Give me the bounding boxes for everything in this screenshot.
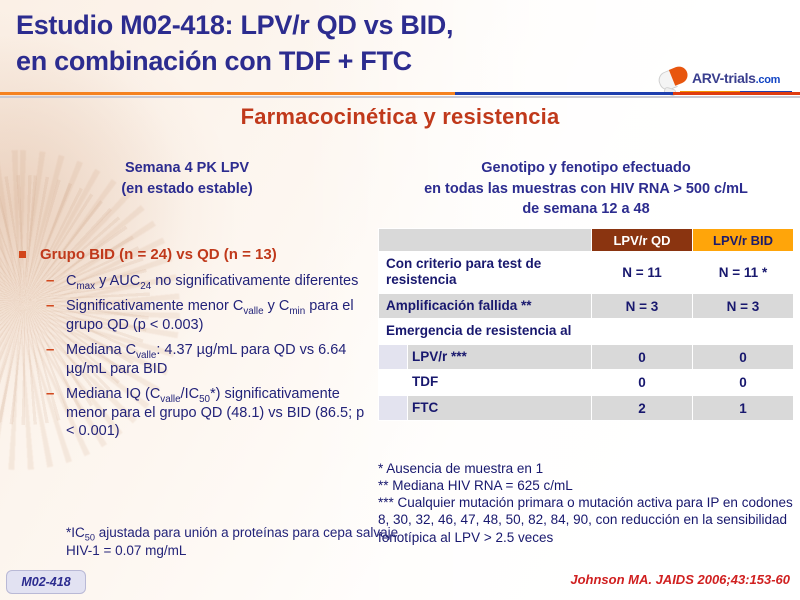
table-row: TDF 0 0 bbox=[379, 370, 794, 395]
slide-canvas: Estudio M02-418: LPV/r QD vs BID, en com… bbox=[0, 0, 800, 600]
divider-segment-gray bbox=[0, 96, 800, 98]
dash-bullet-icon: – bbox=[46, 340, 54, 359]
row-value-qd: N = 3 bbox=[592, 293, 693, 318]
table-header-row: LPV/r QD LPV/r BID bbox=[379, 229, 794, 252]
table-row: FTC 2 1 bbox=[379, 395, 794, 420]
footnote-1: * Ausencia de muestra en 1 bbox=[378, 460, 798, 477]
table-footnotes: * Ausencia de muestra en 1 ** Mediana HI… bbox=[378, 460, 798, 546]
row-value-bid: 1 bbox=[693, 395, 794, 420]
header-blank-cell bbox=[379, 229, 592, 252]
bullet-sub-mediana-iq: – Mediana IQ (Cvalle/IC50*) significativ… bbox=[10, 385, 370, 441]
divider-segment-blue bbox=[455, 92, 673, 95]
resistance-table: LPV/r QD LPV/r BID Con criterio para tes… bbox=[378, 228, 794, 421]
title-line-2: en combinación con TDF + FTC bbox=[16, 44, 656, 80]
bullet-sub-label: Significativamente menor Cvalle y Cmin p… bbox=[66, 298, 354, 333]
table-row: Amplificación fallida ** N = 3 N = 3 bbox=[379, 293, 794, 318]
row-label: FTC bbox=[408, 395, 592, 420]
table-section-row: Emergencia de resistencia al bbox=[379, 319, 794, 344]
left-heading-line-1: Semana 4 PK LPV bbox=[42, 158, 332, 179]
footnote-2: ** Mediana HIV RNA = 625 c/mL bbox=[378, 477, 798, 494]
row-indent-cell bbox=[379, 344, 408, 369]
bullet-sub-cmax-auc: – Cmax y AUC24 no significativamente dif… bbox=[10, 272, 370, 291]
pill-icon bbox=[656, 64, 690, 91]
bullet-main-label: Grupo BID (n = 24) vs QD (n = 13) bbox=[40, 246, 277, 263]
row-value-bid: 0 bbox=[693, 370, 794, 395]
divider-segment-red bbox=[673, 92, 800, 95]
row-label: LPV/r *** bbox=[408, 344, 592, 369]
bullet-list: Grupo BID (n = 24) vs QD (n = 13) – Cmax… bbox=[10, 245, 370, 448]
header-cell-lpvr-bid: LPV/r BID bbox=[693, 229, 794, 252]
row-value-qd: 0 bbox=[592, 370, 693, 395]
row-label: Amplificación fallida ** bbox=[379, 293, 592, 318]
row-label: Con criterio para test de resistencia bbox=[379, 252, 592, 294]
page-title: Estudio M02-418: LPV/r QD vs BID, en com… bbox=[16, 8, 656, 80]
page-subtitle: Farmacocinética y resistencia bbox=[0, 104, 800, 130]
bullet-sub-cvalle-cmin: – Significativamente menor Cvalle y Cmin… bbox=[10, 297, 370, 334]
dash-bullet-icon: – bbox=[46, 271, 54, 290]
bullet-sub-mediana-cvalle: – Mediana Cvalle: 4.37 µg/mL para QD vs … bbox=[10, 341, 370, 378]
right-heading-line-2: en todas las muestras con HIV RNA > 500 … bbox=[372, 179, 800, 200]
row-value-qd: 0 bbox=[592, 344, 693, 369]
row-label: Emergencia de resistencia al bbox=[379, 319, 794, 344]
square-bullet-icon bbox=[19, 251, 26, 258]
row-indent-cell bbox=[379, 370, 408, 395]
row-indent-cell bbox=[379, 395, 408, 420]
left-heading-line-2: (en estado estable) bbox=[42, 179, 332, 200]
header-divider bbox=[0, 92, 800, 95]
bullet-main: Grupo BID (n = 24) vs QD (n = 13) bbox=[10, 245, 370, 265]
left-column-heading: Semana 4 PK LPV (en estado estable) bbox=[42, 158, 332, 199]
footnote-3: *** Cualquier mutación primara o mutació… bbox=[378, 494, 798, 545]
table-row: LPV/r *** 0 0 bbox=[379, 344, 794, 369]
table-row: Con criterio para test de resistencia N … bbox=[379, 252, 794, 294]
logo-wordmark-suffix: .com bbox=[756, 74, 780, 86]
row-value-bid: N = 3 bbox=[693, 293, 794, 318]
bullet-sub-label: Mediana IQ (Cvalle/IC50*) significativam… bbox=[66, 386, 364, 439]
title-line-1: Estudio M02-418: LPV/r QD vs BID, bbox=[16, 10, 453, 40]
dash-bullet-icon: – bbox=[46, 296, 54, 315]
citation-reference: Johnson MA. JAIDS 2006;43:153-60 bbox=[570, 572, 790, 587]
bullet-sub-label: Cmax y AUC24 no significativamente difer… bbox=[66, 273, 358, 289]
row-value-bid: N = 11 * bbox=[693, 252, 794, 294]
right-column-heading: Genotipo y fenotipo efectuado en todas l… bbox=[372, 158, 800, 220]
row-label: TDF bbox=[408, 370, 592, 395]
row-value-qd: N = 11 bbox=[592, 252, 693, 294]
right-heading-line-1: Genotipo y fenotipo efectuado bbox=[372, 158, 800, 179]
row-value-bid: 0 bbox=[693, 344, 794, 369]
row-value-qd: 2 bbox=[592, 395, 693, 420]
left-footnote: *IC50 ajustada para unión a proteínas pa… bbox=[10, 524, 426, 559]
right-heading-line-3: de semana 12 a 48 bbox=[372, 199, 800, 220]
bullet-sub-label: Mediana Cvalle: 4.37 µg/mL para QD vs 6.… bbox=[66, 342, 346, 377]
header-cell-lpvr-qd: LPV/r QD bbox=[592, 229, 693, 252]
logo-wordmark-text: ARV-trials bbox=[692, 70, 756, 86]
divider-segment-orange bbox=[0, 92, 455, 95]
logo-wordmark: ARV-trials.com bbox=[692, 70, 780, 86]
dash-bullet-icon: – bbox=[46, 384, 54, 403]
study-badge: M02-418 bbox=[6, 570, 86, 594]
